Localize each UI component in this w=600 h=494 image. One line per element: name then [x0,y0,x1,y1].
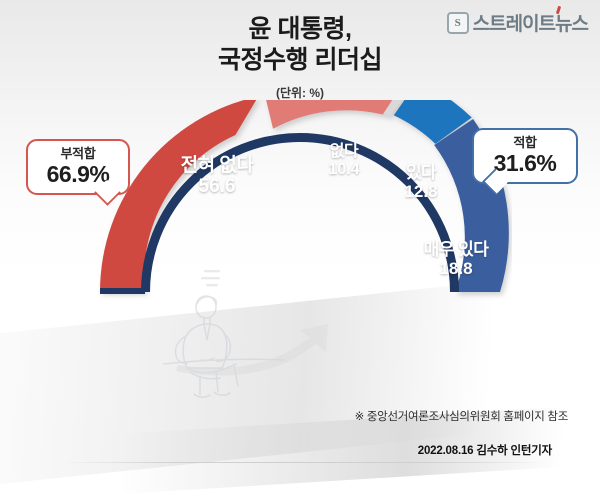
gauge-label-none-at-all: 전혀 없다 56.6 [152,155,282,198]
footer-divider-line [60,462,545,463]
callout-unfit-label: 부적합 [38,146,118,161]
brand-logo: S 스트레이트뉴스 [447,9,588,36]
gauge-label-have-name: 있다 [396,163,446,182]
brand-monogram-icon: S [447,12,469,34]
upward-arrow-icon [176,324,328,376]
gauge-label-very-value: 18.8 [404,259,508,278]
gauge-label-none-name: 없다 [318,143,370,161]
gauge-label-have: 있다 12.8 [396,163,446,201]
gauge-label-none-value: 10.4 [318,161,370,179]
gauge-label-very: 매우 있다 18.8 [404,240,508,278]
infographic-canvas: 윤 대통령, 국정수행 리더십 (단위: %) S 스트레이트뉴스 [0,0,600,494]
gauge-label-none-at-all-name: 전혀 없다 [152,155,282,176]
callout-fit: 적합 31.6% [472,128,578,184]
callout-unfit: 부적합 66.9% [26,139,130,195]
credit-line: 2022.08.16 김수하 인턴기자 [0,442,552,458]
page-title-line2: 국정수행 리더십 [0,45,600,76]
source-note: ※ 중앙선거여론조사심의위원회 홈페이지 참조 [0,408,568,424]
page-title-line1: 윤 대통령, [249,15,352,43]
gauge-label-have-value: 12.8 [396,182,446,201]
gauge-label-very-name: 매우 있다 [404,240,508,259]
gauge-label-none-at-all-value: 56.6 [152,176,282,197]
unit-note: (단위: %) [0,84,600,101]
person-figure-icon [164,296,284,397]
brand-name: 스트레이트뉴스 [473,9,588,36]
gauge-label-none: 없다 10.4 [318,143,370,179]
callout-fit-label: 적합 [484,135,566,150]
gauge-left-foot [100,288,145,294]
